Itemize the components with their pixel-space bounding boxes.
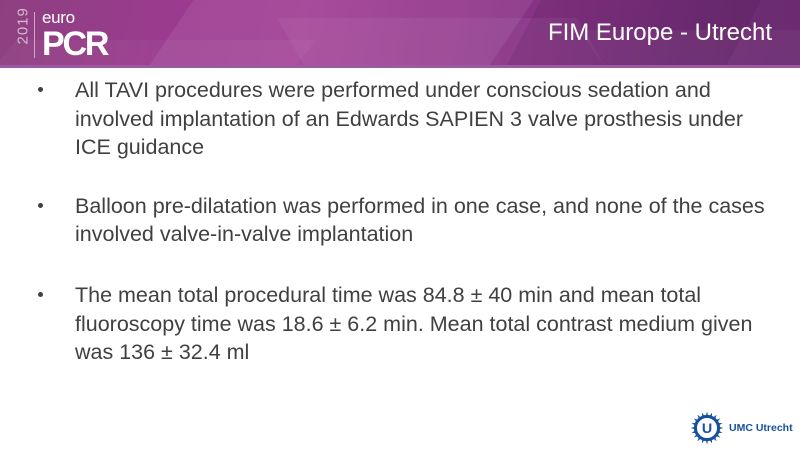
bullet-text: All TAVI procedures were performed under… [75,76,765,162]
list-item: The mean total procedural time was 84.8 … [0,281,800,367]
europcr-logo-pcr-text: PCR [42,27,107,61]
bullet-text: The mean total procedural time was 84.8 … [75,281,765,367]
bullet-list: All TAVI procedures were performed under… [0,76,800,367]
bullet-dot-icon [38,87,43,92]
list-item: Balloon pre-dilatation was performed in … [0,192,800,249]
europcr-logo-euro-text: euro [42,9,107,26]
slide-header-title: FIM Europe - Utrecht [548,0,772,66]
umc-logo-letter: U [702,421,712,437]
list-item: All TAVI procedures were performed under… [0,76,800,162]
europcr-logo-year: 2019 [15,26,32,44]
slide-header-banner: 2019 euro PCR FIM Europe - Utrecht [0,0,800,68]
header-underline-divider [0,65,800,68]
umc-utrecht-logo: U UMC Utrecht [690,410,794,446]
bullet-dot-icon [38,292,43,297]
europcr-logo: 2019 euro PCR [14,9,107,61]
header-facet-decoration [126,0,554,68]
europcr-logo-wordmark: euro PCR [42,9,107,61]
presentation-slide: 2019 euro PCR FIM Europe - Utrecht All T… [0,0,800,450]
europcr-logo-divider [34,12,35,58]
slide-body: All TAVI procedures were performed under… [0,76,800,406]
umc-logo-label: UMC Utrecht [729,422,793,434]
bullet-text: Balloon pre-dilatation was performed in … [75,192,765,249]
bullet-dot-icon [38,203,43,208]
umc-sunburst-icon: U [690,411,724,445]
